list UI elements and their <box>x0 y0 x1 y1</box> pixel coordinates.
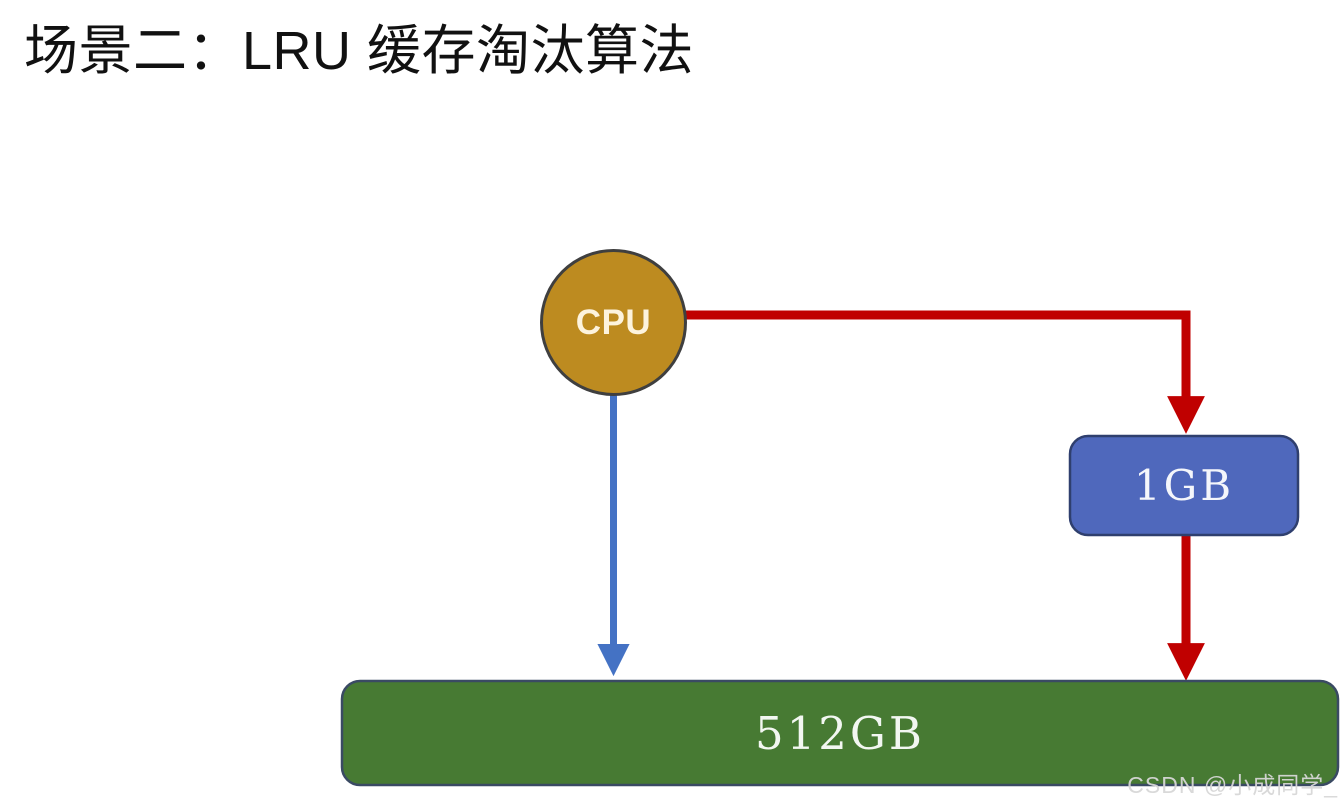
node-cache-label: 1GB <box>1070 436 1298 535</box>
node-disk-label: 512GB <box>342 681 1338 785</box>
node-cpu-label: CPU <box>541 250 686 395</box>
connector-cpu-to-cache <box>686 315 1186 415</box>
node-disk <box>342 681 1338 785</box>
watermark: CSDN @小成同学_ <box>1127 771 1338 799</box>
slide-canvas: 场景二：LRU 缓存淘汰算法 CPU 1GB 512GB CSDN @小成同学_ <box>0 0 1344 805</box>
memory-hierarchy-diagram <box>0 0 1344 805</box>
node-cpu <box>542 251 686 395</box>
page-title: 场景二：LRU 缓存淘汰算法 <box>24 17 694 85</box>
node-cache <box>1070 436 1298 535</box>
